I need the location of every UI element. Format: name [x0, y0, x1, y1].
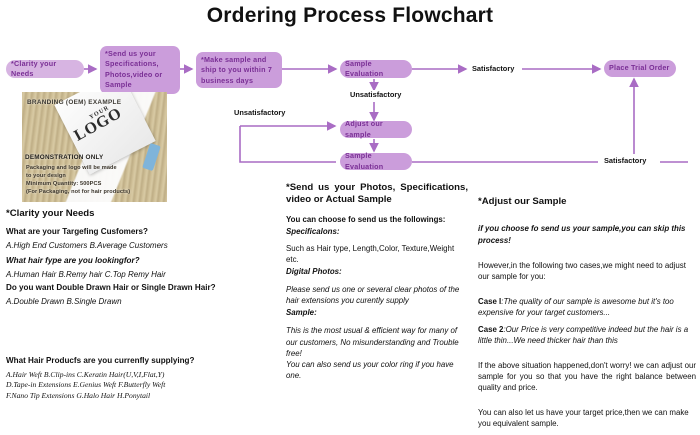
colA-answer-4-line-1: A.Hair Weft B.Clip-ins C.Keratin Hair(U,…: [6, 370, 274, 381]
colA-question-4: What Hair Producfs are you currenfly sup…: [6, 356, 274, 367]
colB-sample-free: free!: [286, 348, 468, 359]
flow-node-make-sample-label: *Make sample and ship to you within 7 bu…: [201, 55, 277, 86]
colA-question-3: Do you want Double Drawn Hair or Single …: [6, 283, 274, 294]
colC-target-price: You can also let us have your target pri…: [478, 407, 696, 429]
flow-node-send[interactable]: *Send us your Specifications, Photos,vid…: [100, 46, 180, 94]
flowchart-page: Ordering Process Flowchart: [0, 0, 700, 417]
flow-node-place-trial-order-label: Place Trial Order: [609, 63, 670, 73]
colB-choose-line: You can choose fo send us the followings…: [286, 214, 468, 225]
edge-label-satisfactory-top: Satisfactory: [470, 64, 516, 73]
colC-case-2-label: Case 2: [478, 325, 503, 334]
photo-note-4: (For Packaging, not for hair products): [26, 189, 130, 195]
colA-question-2: What hair fype are you lookingfor?: [6, 256, 274, 267]
flow-node-sample-evaluation-1-label: Sample Evaluation: [345, 59, 407, 80]
photo-note-1: Packaging and logo will be made: [26, 165, 117, 171]
photo-brand-line: BRANDING (OEM) EXAMPLE: [27, 99, 121, 106]
colB-specifications-label: Specificalons:: [286, 226, 468, 237]
colA-heading: *Clarity your Needs: [6, 208, 274, 220]
edge-label-satisfactory-bottom: Satisfactory: [602, 156, 648, 165]
colB-specifications-body: Such as Hair type, Length,Color, Texture…: [286, 243, 468, 265]
colC-case-1-body: :The quality of our sample is awesome bu…: [478, 297, 674, 317]
column-adjust-our-sample: *Adjust our Sample if you choose fo send…: [478, 196, 696, 435]
branding-example-photo: YOUR LOGO BRANDING (OEM) EXAMPLE DEMONST…: [22, 92, 167, 202]
colA-answer-4-line-2: D.Tape-in Extensions E.Genius Weft F.But…: [6, 380, 274, 391]
colB-sample-body: This is the most usual & efficient way f…: [286, 325, 468, 347]
flow-node-send-label: *Send us your Specifications, Photos,vid…: [105, 49, 175, 91]
column-clarity-your-needs: *Clarity your Needs What are your Targef…: [6, 208, 274, 402]
flow-node-sample-evaluation-2-label: Sample Evaluation: [345, 151, 407, 172]
photo-note-3: Minimum Quantity: 500PCS: [26, 181, 101, 187]
colC-heading: *Adjust our Sample: [478, 196, 696, 208]
colC-case-1-label: Case I: [478, 297, 501, 306]
colA-answer-3: A.Double Drawn B.Single Drawn: [6, 297, 274, 308]
flow-node-adjust-sample[interactable]: Adjust our sample: [340, 121, 412, 138]
colA-answer-1: A.High End Customers B.Average Customers: [6, 241, 274, 252]
colC-case-2-body: :Our Price is very competitive indeed bu…: [478, 325, 688, 345]
column-send-us-your-photos: *Send us your Photos, Specifications, vi…: [286, 182, 468, 387]
flow-node-sample-evaluation-1[interactable]: Sample Evaluation: [340, 60, 412, 78]
colA-answer-2: A.Human Hair B.Remy hair C.Top Remy Hair: [6, 270, 274, 281]
colA-answer-4-line-3: F.Nano Tip Extensions G.Halo Hair H.Pony…: [6, 391, 274, 402]
colB-digital-photos-body: Please send us one or several clear phot…: [286, 284, 468, 306]
flow-node-clarify-label: *Clarity your Needs: [11, 59, 79, 80]
colA-question-1: What are your Targefing Cusfomers?: [6, 227, 274, 238]
flow-node-adjust-sample-label: Adjust our sample: [345, 119, 407, 140]
flow-node-place-trial-order[interactable]: Place Trial Order: [604, 60, 676, 77]
colC-skip-note: if you choose fo send us your sample,you…: [478, 223, 696, 245]
flow-node-make-sample[interactable]: *Make sample and ship to you within 7 bu…: [196, 52, 282, 88]
photo-demo-line: DEMONSTRATION ONLY: [25, 154, 104, 161]
colC-case-2: Case 2:Our Price is very competitive ind…: [478, 324, 696, 346]
colC-resolution: If the above situation happened,don't wo…: [478, 360, 696, 393]
colB-digital-photos-label: Digital Photos:: [286, 266, 468, 277]
colB-heading: *Send us your Photos, Specifications, vi…: [286, 182, 468, 207]
flow-node-clarify[interactable]: *Clarity your Needs: [6, 60, 84, 78]
colC-however: However,in the following two cases,we mi…: [478, 260, 696, 282]
colB-sample-extra: You can also send us your color ring if …: [286, 359, 468, 381]
colB-sample-label: Sample:: [286, 307, 468, 318]
edge-label-unsatisfactory-top: Unsatisfactory: [348, 90, 403, 99]
photo-note-2: to your design: [26, 173, 66, 179]
edge-label-unsatisfactory-loop: Unsatisfactory: [232, 108, 287, 117]
flow-node-sample-evaluation-2[interactable]: Sample Evaluation: [340, 153, 412, 170]
page-title: Ordering Process Flowchart: [0, 4, 700, 28]
colC-case-1: Case I:The quality of our sample is awes…: [478, 296, 696, 318]
